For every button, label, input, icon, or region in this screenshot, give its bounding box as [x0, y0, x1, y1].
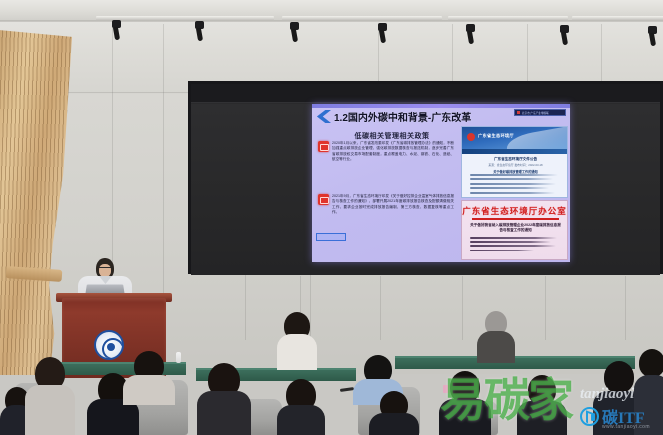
slide-right-column: 广东省生态环境厅 广东省生态环境厅文件公告 来源：省生态环境厅 发布时间：202… [461, 126, 568, 260]
slide-bullet-2-text: 2021年9月，广东省生态环境厅印发《关于做好控排企业温室气体排放信息报告与核查… [332, 194, 454, 215]
document-red-rule [472, 218, 559, 220]
track-spotlight-icon [290, 22, 299, 30]
document-body-lines [470, 237, 562, 254]
conference-room-scene: 1.2国内外碳中和背景-广东改革 北京市 广东产业零碳联 低碳相关管理相关政策 … [0, 0, 663, 435]
slide-title: 1.2国内外碳中和背景-广东改革 [334, 109, 471, 124]
document-red-icon [318, 141, 329, 152]
audience-person [276, 379, 326, 435]
light-track-rail [282, 16, 442, 21]
tag-marker-icon [517, 111, 520, 114]
audience-person [24, 357, 76, 435]
wall-panel-seam [625, 276, 626, 340]
audience-person [196, 363, 252, 435]
document-heading: 关于做好我省纳入碳排放管理企业2022年度碳排放信息报告与核查工作的通知 [470, 223, 561, 233]
website-header-banner: 广东省生态环境厅 [462, 127, 567, 149]
slide-left-column: 2020年1月以来，广东省发改委印发《广东省碳排放管理办法》的通知，不断加强重点… [316, 141, 458, 259]
audience-person [122, 351, 176, 405]
light-track-rail [96, 16, 274, 21]
track-spotlight-icon [648, 26, 657, 34]
university-emblem-icon [94, 330, 124, 360]
water-bottle [176, 352, 181, 363]
official-document-card: 广东省生态环境厅办公室 关于做好我省纳入碳排放管理企业2022年度碳排放信息报告… [461, 200, 568, 260]
website-body-lines [470, 174, 562, 196]
slide-bullet-1-text: 2020年1月以来，广东省发改委印发《广东省碳排放管理办法》的通知，不断加强重点… [332, 141, 454, 162]
screen-top-frame [191, 84, 660, 103]
website-navbar [462, 149, 567, 154]
chevron-left-icon [316, 110, 331, 123]
slide-bullet-1: 2020年1月以来，广东省发改委印发《广东省碳排放管理办法》的通知，不断加强重点… [318, 141, 454, 162]
website-doc-meta: 来源：省生态环境厅 发布时间：2022-03-18 [470, 163, 561, 167]
light-track-rail [448, 16, 568, 21]
track-spotlight-icon [195, 21, 204, 29]
track-spotlight-icon [112, 20, 121, 28]
audience-person [368, 391, 420, 435]
wall-panel-seam [462, 276, 463, 340]
document-red-header: 广东省生态环境厅办公室 [462, 205, 567, 217]
wall-panel-seam [163, 24, 164, 324]
audience-person [276, 312, 318, 370]
glasses-icon [99, 267, 111, 270]
website-screenshot-card: 广东省生态环境厅 广东省生态环境厅文件公告 来源：省生态环境厅 发布时间：202… [461, 126, 568, 198]
wall-panel-seam [545, 276, 546, 340]
slide-tag-label: 北京市 广东产业零碳联 [522, 111, 549, 115]
audience-person [476, 311, 516, 363]
wall-panel-seam [380, 276, 381, 340]
track-spotlight-icon [378, 23, 387, 31]
presentation-slide: 1.2国内外碳中和背景-广东改革 北京市 广东产业零碳联 低碳相关管理相关政策 … [312, 104, 570, 262]
slide-bullet-2: 2021年9月，广东省生态环境厅印发《关于做好控排企业温室气体排放信息报告与核查… [318, 194, 454, 215]
slide-highlight-box [316, 233, 346, 241]
website-doc-title: 广东省生态环境厅文件公告 [470, 157, 561, 162]
audience-person [438, 371, 492, 435]
light-track-rail [572, 16, 663, 21]
gov-seal-icon [467, 133, 475, 141]
audience-person [634, 349, 663, 435]
slide-corner-tag: 北京市 广东产业零碳联 [514, 109, 566, 116]
audience-person [516, 375, 568, 435]
website-site-name: 广东省生态环境厅 [478, 133, 514, 139]
document-red-icon [318, 194, 329, 205]
track-spotlight-icon [466, 24, 475, 32]
slide-subtitle: 低碳相关管理相关政策 [328, 131, 456, 141]
track-spotlight-icon [560, 25, 569, 33]
